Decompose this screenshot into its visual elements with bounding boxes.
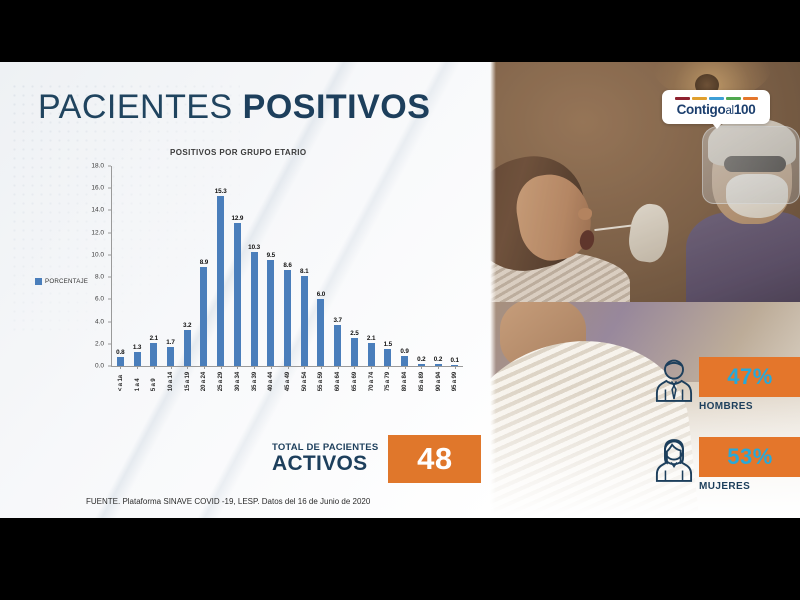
bar-item: 15.3	[212, 166, 229, 366]
right-panel: Contigoal100 47%	[490, 62, 800, 518]
bar-value-label: 0.8	[116, 349, 124, 356]
x-axis-label-text: 40 a 44	[267, 372, 274, 391]
x-axis-label-text: 30 a 34	[234, 372, 241, 391]
y-axis-tick-label: 2.0	[95, 340, 104, 347]
gender-stat-hombres-content: 47% HOMBRES	[699, 357, 800, 412]
bar-value-label: 0.9	[400, 348, 408, 355]
x-axis-label-text: 25 a 29	[217, 372, 224, 391]
bar-value-label: 1.5	[384, 341, 392, 348]
x-axis-tick-mark	[321, 366, 322, 369]
bar-value-label: 9.5	[267, 252, 275, 259]
y-axis-tick-label: 12.0	[91, 229, 104, 236]
x-axis-label: 20 a 24	[196, 372, 213, 391]
x-axis-label: 75 a 79	[380, 372, 397, 391]
gender-stat-mujeres-label: MUJERES	[699, 481, 800, 492]
total-active-value: 48	[417, 441, 452, 477]
bar-item: 8.9	[196, 166, 213, 366]
bar-value-label: 0.1	[451, 357, 459, 364]
x-axis-label-text: 55 a 59	[317, 372, 324, 391]
x-axis-tick-mark	[338, 366, 339, 369]
bar-item: 6.0	[313, 166, 330, 366]
gender-stat-hombres-label: HOMBRES	[699, 401, 800, 412]
bar-rect	[234, 223, 241, 366]
page-title-thin: PACIENTES	[38, 88, 243, 126]
x-axis-label-text: 60 a 64	[334, 372, 341, 391]
x-axis-label: 50 a 54	[296, 372, 313, 391]
x-axis-tick-mark	[388, 366, 389, 369]
bar-rect	[200, 267, 207, 366]
x-axis-label: 95 a 99	[446, 372, 463, 391]
x-axis-tick-mark	[371, 366, 372, 369]
bar-rect	[384, 349, 391, 366]
bar-rect	[301, 276, 308, 366]
bar-value-label: 0.2	[417, 356, 425, 363]
gender-stats-photo-background: 47% HOMBRES 53% MUJERES	[490, 302, 800, 518]
bar-item: 2.1	[363, 166, 380, 366]
x-axis-label: 1 a 4	[129, 372, 146, 391]
bar-value-label: 3.2	[183, 322, 191, 329]
logo-color-bar	[675, 97, 690, 100]
slide-canvas: PACIENTES POSITIVOS POSITIVOS POR GRUPO …	[0, 62, 800, 518]
x-axis-label-text: 75 a 79	[384, 372, 391, 391]
y-axis-tick-label: 0.0	[95, 363, 104, 370]
bar-item: 3.7	[329, 166, 346, 366]
bar-value-label: 10.3	[248, 244, 260, 251]
x-axis-label: < a 1a	[112, 372, 129, 391]
chart-title: POSITIVOS POR GRUPO ETARIO	[170, 148, 307, 157]
bar-item: 1.3	[129, 166, 146, 366]
x-axis-tick-mark	[171, 366, 172, 369]
x-axis-tick-mark	[137, 366, 138, 369]
x-axis-label-text: 45 a 49	[284, 372, 291, 391]
bar-rect	[401, 356, 408, 366]
page-title: PACIENTES POSITIVOS	[38, 88, 430, 127]
x-axis-label: 65 a 69	[346, 372, 363, 391]
x-axis-label: 5 a 9	[145, 372, 162, 391]
x-axis-label: 15 a 19	[179, 372, 196, 391]
bar-item: 12.9	[229, 166, 246, 366]
gender-stat-hombres-box: 47%	[699, 357, 800, 397]
logo-text: Contigoal100	[677, 102, 756, 117]
bar-rect	[317, 299, 324, 366]
total-active-title: ACTIVOS	[272, 453, 378, 475]
bar-value-label: 8.9	[200, 259, 208, 266]
bar-rect	[351, 338, 358, 366]
x-axis-label: 10 a 14	[162, 372, 179, 391]
bar-item: 3.2	[179, 166, 196, 366]
x-axis-tick-mark	[254, 366, 255, 369]
y-axis-tick-label: 18.0	[91, 163, 104, 170]
male-person-icon	[655, 357, 693, 403]
y-axis: 18.016.014.012.010.08.06.04.02.00.0	[78, 166, 108, 366]
x-axis-tick-mark	[221, 366, 222, 369]
legend-swatch-porcentaje	[35, 278, 42, 285]
bar-rect	[368, 343, 375, 366]
x-axis-tick-mark	[405, 366, 406, 369]
bar-value-label: 2.1	[367, 335, 375, 342]
bar-series-porcentaje: 0.81.32.11.73.28.915.312.910.39.58.68.16…	[112, 166, 463, 366]
x-axis-labels: < a 1a1 a 45 a 910 a 1415 a 1920 a 2425 …	[112, 372, 463, 391]
y-axis-tick-label: 6.0	[95, 296, 104, 303]
x-axis-label: 70 a 74	[363, 372, 380, 391]
x-axis-label: 90 a 94	[430, 372, 447, 391]
x-axis-label: 85 a 89	[413, 372, 430, 391]
logo-color-bars	[675, 97, 758, 100]
x-axis-label-text: 5 a 9	[150, 372, 157, 391]
logo-color-bar	[743, 97, 758, 100]
x-axis-label: 25 a 29	[212, 372, 229, 391]
bar-item: 8.6	[279, 166, 296, 366]
bar-rect	[134, 352, 141, 366]
gender-stat-hombres: 47% HOMBRES	[655, 357, 800, 412]
female-person-icon	[655, 437, 693, 483]
x-axis-tick-mark	[354, 366, 355, 369]
x-axis-tick-mark	[204, 366, 205, 369]
bar-item: 1.5	[380, 166, 397, 366]
bar-rect	[334, 325, 341, 366]
bar-item: 10.3	[246, 166, 263, 366]
source-note: FUENTE. Plataforma SINAVE COVID -19, LES…	[86, 497, 370, 506]
right-panel-left-edge	[490, 62, 496, 518]
x-axis-label: 35 a 39	[246, 372, 263, 391]
x-axis-tick-mark	[237, 366, 238, 369]
left-panel: PACIENTES POSITIVOS POSITIVOS POR GRUPO …	[0, 62, 490, 518]
gender-stat-mujeres-box: 53%	[699, 437, 800, 477]
covid-swab-test-photo: Contigoal100	[490, 62, 800, 302]
gender-stat-mujeres-percent: 53%	[727, 444, 773, 470]
x-axis-label-text: 10 a 14	[167, 372, 174, 391]
bar-rect	[117, 357, 124, 366]
bar-value-label: 6.0	[317, 291, 325, 298]
bar-item: 0.2	[413, 166, 430, 366]
y-axis-tick-label: 8.0	[95, 274, 104, 281]
x-axis-label-text: 15 a 19	[184, 372, 191, 391]
total-active-text: TOTAL DE PACIENTES ACTIVOS	[272, 435, 388, 483]
bar-item: 9.5	[262, 166, 279, 366]
page-title-bold: POSITIVOS	[243, 88, 431, 126]
bar-item: 0.8	[112, 166, 129, 366]
bar-item: 1.7	[162, 166, 179, 366]
x-axis-label-text: 50 a 54	[301, 372, 308, 391]
bar-value-label: 8.6	[283, 262, 291, 269]
x-axis-label-text: 1 a 4	[134, 372, 141, 391]
logo-color-bar	[692, 97, 707, 100]
total-active-value-box: 48	[388, 435, 481, 483]
chart-plot-area: 18.016.014.012.010.08.06.04.02.00.0 0.81…	[78, 166, 463, 366]
logo-text-contigo: Contigo	[677, 102, 726, 117]
x-axis-tick-mark	[271, 366, 272, 369]
bar-value-label: 3.7	[333, 317, 341, 324]
bar-value-label: 1.7	[166, 339, 174, 346]
x-axis-label-text: 85 a 89	[418, 372, 425, 391]
logo-color-bar	[709, 97, 724, 100]
x-axis-tick-mark	[120, 366, 121, 369]
bar-item: 2.5	[346, 166, 363, 366]
x-axis-tick-mark	[154, 366, 155, 369]
gender-stat-hombres-percent: 47%	[727, 364, 773, 390]
gender-stat-mujeres: 53% MUJERES	[655, 437, 800, 492]
bar-item: 0.2	[430, 166, 447, 366]
y-axis-tick-label: 16.0	[91, 185, 104, 192]
y-axis-tick-label: 4.0	[95, 318, 104, 325]
bar-value-label: 12.9	[231, 215, 243, 222]
logo-text-100: 100	[734, 102, 756, 117]
x-axis-label: 30 a 34	[229, 372, 246, 391]
x-axis-label-text: 65 a 69	[351, 372, 358, 391]
x-axis-label-text: < a 1a	[117, 372, 124, 391]
x-axis-tick-mark	[304, 366, 305, 369]
bar-item: 0.9	[396, 166, 413, 366]
x-axis-label-text: 80 a 84	[401, 372, 408, 391]
bar-item: 2.1	[145, 166, 162, 366]
bar-value-label: 0.2	[434, 356, 442, 363]
x-axis-tick-mark	[288, 366, 289, 369]
bar-rect	[284, 270, 291, 366]
x-axis-label-text: 35 a 39	[251, 372, 258, 391]
contigo-al-100-logo: Contigoal100	[662, 90, 770, 124]
bar-chart: POSITIVOS POR GRUPO ETARIO PORCENTAJE 18…	[20, 148, 475, 423]
x-axis-label: 55 a 59	[313, 372, 330, 391]
x-axis-tick-mark	[421, 366, 422, 369]
bar-value-label: 15.3	[215, 188, 227, 195]
x-axis-label-text: 20 a 24	[200, 372, 207, 391]
bar-rect	[150, 343, 157, 366]
bar-rect	[184, 330, 191, 366]
bar-item: 0.1	[446, 166, 463, 366]
x-axis-label: 45 a 49	[279, 372, 296, 391]
bar-rect	[217, 196, 224, 366]
x-axis-tick-mark	[438, 366, 439, 369]
bar-item: 8.1	[296, 166, 313, 366]
logo-text-al: al	[725, 105, 733, 117]
x-axis-label-text: 95 a 99	[451, 372, 458, 391]
x-axis-tick-mark	[455, 366, 456, 369]
x-axis-label: 40 a 44	[262, 372, 279, 391]
bar-rect	[167, 347, 174, 366]
bar-value-label: 2.5	[350, 330, 358, 337]
gender-stat-mujeres-content: 53% MUJERES	[699, 437, 800, 492]
x-axis-tick-mark	[187, 366, 188, 369]
bar-rect	[267, 260, 274, 366]
bar-rect	[251, 252, 258, 366]
x-axis-label: 80 a 84	[396, 372, 413, 391]
x-axis-label-text: 70 a 74	[368, 372, 375, 391]
bar-value-label: 8.1	[300, 268, 308, 275]
x-axis-label-text: 90 a 94	[435, 372, 442, 391]
bar-value-label: 2.1	[150, 335, 158, 342]
logo-color-bar	[726, 97, 741, 100]
x-axis-label: 60 a 64	[329, 372, 346, 391]
y-axis-tick-label: 10.0	[91, 251, 104, 258]
y-axis-tick-label: 14.0	[91, 207, 104, 214]
bar-value-label: 1.3	[133, 344, 141, 351]
total-active-patients: TOTAL DE PACIENTES ACTIVOS 48	[272, 435, 481, 483]
